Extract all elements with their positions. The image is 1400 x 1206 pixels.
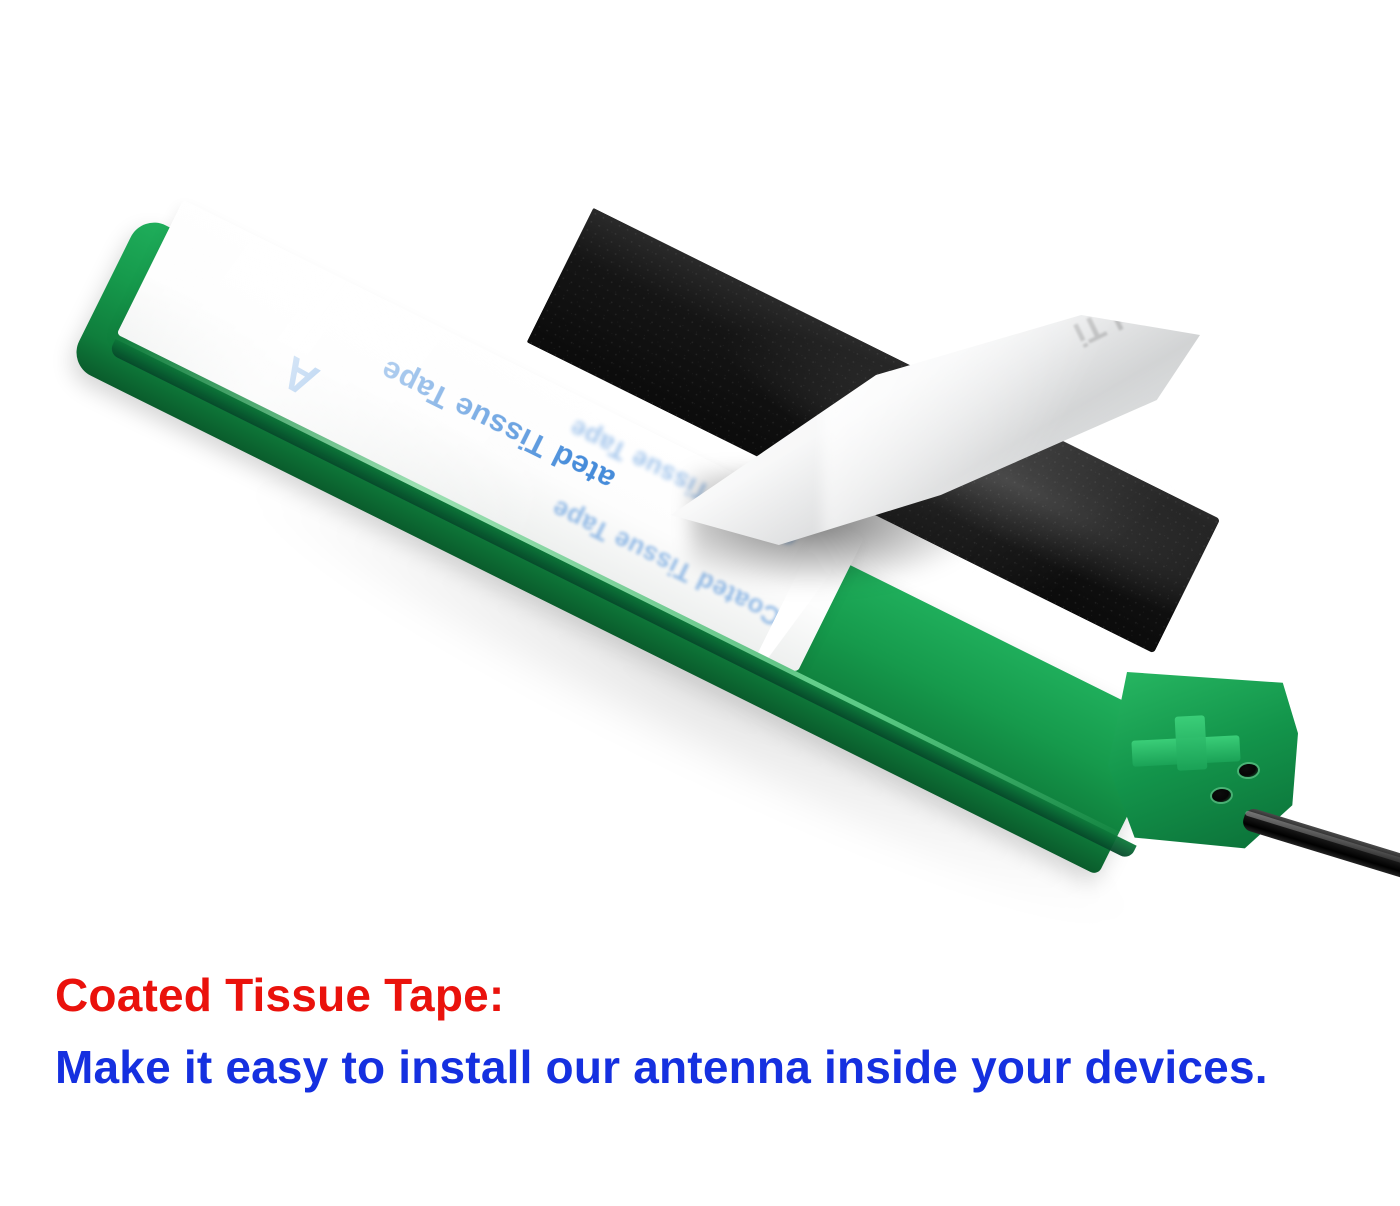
- product-image-canvas: Coated Tissue Tape ated Tissue Tape Coat…: [0, 0, 1400, 1206]
- cable-highlight: [1245, 810, 1400, 873]
- caption-block: Coated Tissue Tape: Make it easy to inst…: [0, 940, 1400, 1206]
- liner-logo-a-mark: A: [272, 345, 328, 409]
- caption-title: Coated Tissue Tape:: [55, 968, 504, 1022]
- caption-body: Make it easy to install our antenna insi…: [55, 1040, 1268, 1094]
- feed-trace-vertical: [1175, 715, 1208, 770]
- coaxial-cable: [1241, 807, 1400, 887]
- product-photo: Coated Tissue Tape ated Tissue Tape Coat…: [0, 0, 1400, 940]
